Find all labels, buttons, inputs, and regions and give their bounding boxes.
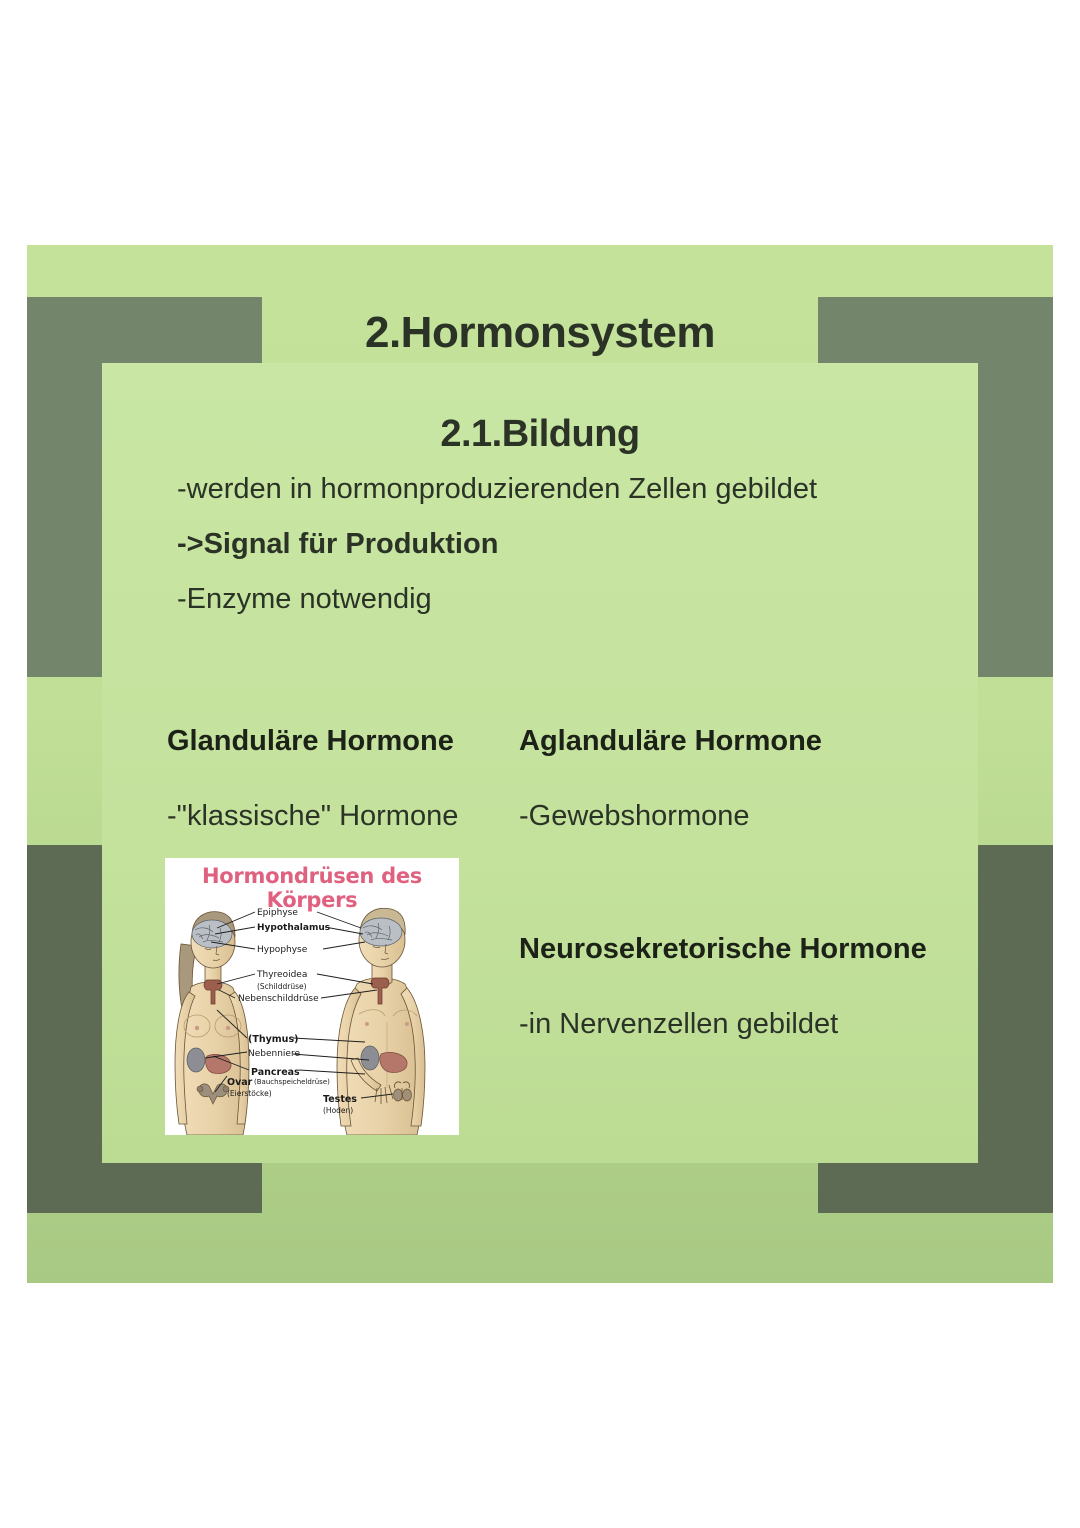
column-glandulaere-hormone: Glanduläre Hormone -"klassische" Hormone [167,725,517,833]
anatomy-label: (Thymus) [248,1035,298,1045]
anatomy-label: Nebenschilddrüse [238,995,319,1004]
slide-title: 2.Hormonsystem [27,308,1053,358]
anatomy-label: (Eierstöcke) [227,1090,272,1098]
anatomy-label: (Hoden) [323,1107,353,1115]
column-body-nervenzellen: -in Nervenzellen gebildet [519,1008,989,1041]
anatomy-label: Nebenniere [248,1050,300,1059]
anatomy-label: Ovar [227,1078,252,1088]
anatomy-figure-illustration: EpiphyseHypothalamusHypophyseThyreoidea(… [165,892,459,1135]
bullet-item: -Enzyme notwendig [177,583,977,616]
anatomy-label: Hypophyse [257,946,307,955]
anatomy-label: Pancreas [251,1068,300,1078]
bullet-item: ->Signal für Produktion [177,528,977,561]
bullet-item: -werden in hormonproduzierenden Zellen g… [177,473,977,506]
anatomy-label: Thyreoidea [257,971,307,980]
column-body-gewebshormone: -Gewebshormone [519,800,989,833]
column-heading-glandulaere: Glanduläre Hormone [167,725,517,758]
anatomy-label: (Schilddrüse) [257,983,307,991]
female-figure [175,912,249,1135]
anatomy-label: (Bauchspeicheldrüse) [254,1079,330,1086]
anatomy-label: Hypothalamus [257,924,330,933]
column-heading-neurosekretorische: Neurosekretorische Hormone [519,933,989,966]
anatomy-figure-hormondruesen: Hormondrüsen des Körpers [165,858,459,1135]
bullet-list: -werden in hormonproduzierenden Zellen g… [177,473,977,638]
anatomy-label: Epiphyse [257,909,298,918]
column-body-klassische-hormone: -"klassische" Hormone [167,800,517,833]
section-heading: 2.1.Bildung [27,413,1053,456]
anatomy-label: Testes [323,1095,357,1105]
column-aglandulaere-hormone: Aglanduläre Hormone -Gewebshormone Neuro… [519,725,989,1041]
column-heading-aglandulaere: Aglanduläre Hormone [519,725,989,758]
presentation-slide: 2.Hormonsystem 2.1.Bildung -werden in ho… [27,245,1053,1283]
